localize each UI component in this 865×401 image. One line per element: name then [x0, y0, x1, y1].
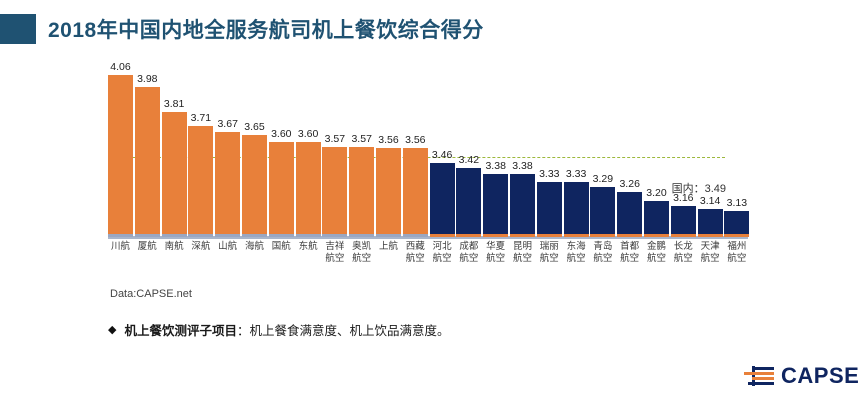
x-axis-label-川航: 川航 [108, 241, 133, 253]
bar-东海航空[interactable]: 3.33 [564, 182, 589, 237]
bar-rect [162, 112, 187, 237]
bar-西藏航空[interactable]: 3.56 [403, 148, 428, 237]
x-axis-label-金鹏航空: 金鹏航空 [644, 241, 669, 264]
x-axis-label-海航: 海航 [242, 241, 267, 253]
x-axis-label-厦航: 厦航 [135, 241, 160, 253]
title-accent-mark [0, 14, 36, 44]
bar-rect [430, 163, 455, 237]
bar-rect [349, 147, 374, 237]
bar-rect [376, 148, 401, 237]
x-axis-label-国航: 国航 [269, 241, 294, 253]
bar-首都航空[interactable]: 3.26 [617, 192, 642, 237]
bar-东航[interactable]: 3.60 [296, 142, 321, 237]
x-axis-label-东航: 东航 [296, 241, 321, 253]
bar-山航[interactable]: 3.67 [215, 132, 240, 237]
diamond-bullet-icon: ◆ [108, 323, 116, 336]
data-source: Data:CAPSE.net [110, 288, 192, 300]
bar-昆明航空[interactable]: 3.38 [510, 174, 535, 237]
bar-海航[interactable]: 3.65 [242, 135, 267, 237]
capse-logo: CAPSE [744, 363, 859, 389]
bar-value-label: 3.65 [244, 121, 264, 133]
bar-rect [617, 192, 642, 237]
bar-value-label: 3.56 [378, 134, 398, 146]
bar-上航[interactable]: 3.56 [376, 148, 401, 237]
bar-value-label: 3.71 [191, 112, 211, 124]
x-axis-label-奥凯航空: 奥凯航空 [349, 241, 374, 264]
bar-rect [510, 174, 535, 237]
bar-value-label: 3.33 [566, 168, 586, 180]
x-axis-label-长龙航空: 长龙航空 [671, 241, 696, 264]
capse-logo-mark-icon [744, 365, 774, 387]
bar-福州航空[interactable]: 3.13 [724, 211, 749, 237]
bar-value-label: 3.60 [298, 128, 318, 140]
bar-rect [590, 187, 615, 237]
x-axis-label-成都航空: 成都航空 [456, 241, 481, 264]
bar-rect [135, 87, 160, 237]
bar-rect [188, 126, 213, 237]
x-axis-labels: 川航厦航南航深航山航海航国航东航吉祥航空奥凯航空上航西藏航空河北航空成都航空华夏… [108, 241, 748, 297]
footnote-rest: ：机上餐食满意度、机上饮品满意度。 [237, 320, 450, 339]
page-title: 2018年中国内地全服务航司机上餐饮综合得分 [0, 12, 484, 46]
bar-value-label: 3.67 [217, 118, 237, 130]
x-axis-label-山航: 山航 [215, 241, 240, 253]
bar-rect [108, 75, 133, 237]
bar-chart: 国内：3.49 4.063.983.813.713.673.653.603.60… [108, 58, 748, 240]
x-axis-label-河北航空: 河北航空 [430, 241, 455, 264]
bar-rect [564, 182, 589, 237]
bar-天津航空[interactable]: 3.14 [698, 209, 723, 237]
bar-value-label: 3.38 [485, 160, 505, 172]
bar-rect [724, 211, 749, 237]
bar-河北航空[interactable]: 3.46 [430, 163, 455, 237]
bar-rect [215, 132, 240, 237]
bar-value-label: 4.06 [110, 61, 130, 73]
bar-value-label: 3.13 [727, 197, 747, 209]
bar-rect [456, 168, 481, 237]
x-axis-label-东海航空: 东海航空 [564, 241, 589, 264]
title-text: 2018年中国内地全服务航司机上餐饮综合得分 [48, 14, 484, 44]
bar-金鹏航空[interactable]: 3.20 [644, 201, 669, 237]
bar-rect [296, 142, 321, 237]
bar-长龙航空[interactable]: 3.16 [671, 206, 696, 237]
bar-value-label: 3.57 [325, 133, 345, 145]
bar-rect [671, 206, 696, 237]
x-axis-label-首都航空: 首都航空 [617, 241, 642, 264]
bar-value-label: 3.20 [646, 187, 666, 199]
bar-value-label: 3.33 [539, 168, 559, 180]
bar-value-label: 3.81 [164, 98, 184, 110]
bar-rect [403, 148, 428, 237]
bar-value-label: 3.42 [459, 154, 479, 166]
bar-奥凯航空[interactable]: 3.57 [349, 147, 374, 237]
bar-value-label: 3.29 [593, 173, 613, 185]
bar-瑞丽航空[interactable]: 3.33 [537, 182, 562, 237]
bar-rect [698, 209, 723, 237]
x-axis-label-瑞丽航空: 瑞丽航空 [537, 241, 562, 264]
bar-value-label: 3.16 [673, 192, 693, 204]
x-axis-label-华夏航空: 华夏航空 [483, 241, 508, 264]
bar-value-label: 3.46 [432, 149, 452, 161]
bar-国航[interactable]: 3.60 [269, 142, 294, 237]
x-axis-label-福州航空: 福州航空 [724, 241, 749, 264]
bar-厦航[interactable]: 3.98 [135, 87, 160, 237]
bar-value-label: 3.98 [137, 73, 157, 85]
bar-rect [322, 147, 347, 237]
bar-吉祥航空[interactable]: 3.57 [322, 147, 347, 237]
x-axis-label-天津航空: 天津航空 [698, 241, 723, 264]
bar-rect [483, 174, 508, 237]
bar-value-label: 3.57 [351, 133, 371, 145]
bar-rect [242, 135, 267, 237]
capse-logo-text: CAPSE [781, 363, 859, 389]
bar-rect [269, 142, 294, 237]
footnote: ◆ 机上餐饮测评子项目 ：机上餐食满意度、机上饮品满意度。 [108, 320, 450, 339]
bar-value-label: 3.60 [271, 128, 291, 140]
x-axis-label-昆明航空: 昆明航空 [510, 241, 535, 264]
bar-成都航空[interactable]: 3.42 [456, 168, 481, 237]
x-axis-label-青岛航空: 青岛航空 [590, 241, 615, 264]
x-axis-label-南航: 南航 [162, 241, 187, 253]
x-axis-label-深航: 深航 [188, 241, 213, 253]
x-axis-label-上航: 上航 [376, 241, 401, 253]
chart-plot-area: 国内：3.49 4.063.983.813.713.673.653.603.60… [108, 58, 748, 240]
bar-南航[interactable]: 3.81 [162, 112, 187, 237]
footnote-strong: 机上餐饮测评子项目 [124, 320, 237, 339]
bar-华夏航空[interactable]: 3.38 [483, 174, 508, 237]
x-axis-label-西藏航空: 西藏航空 [403, 241, 428, 264]
bar-value-label: 3.14 [700, 195, 720, 207]
bar-川航[interactable]: 4.06 [108, 75, 133, 237]
bar-rect [537, 182, 562, 237]
x-axis-label-吉祥航空: 吉祥航空 [322, 241, 347, 264]
bar-深航[interactable]: 3.71 [188, 126, 213, 237]
bar-value-label: 3.38 [512, 160, 532, 172]
bar-rect [644, 201, 669, 237]
bar-value-label: 3.56 [405, 134, 425, 146]
bar-青岛航空[interactable]: 3.29 [590, 187, 615, 237]
bar-value-label: 3.26 [619, 178, 639, 190]
